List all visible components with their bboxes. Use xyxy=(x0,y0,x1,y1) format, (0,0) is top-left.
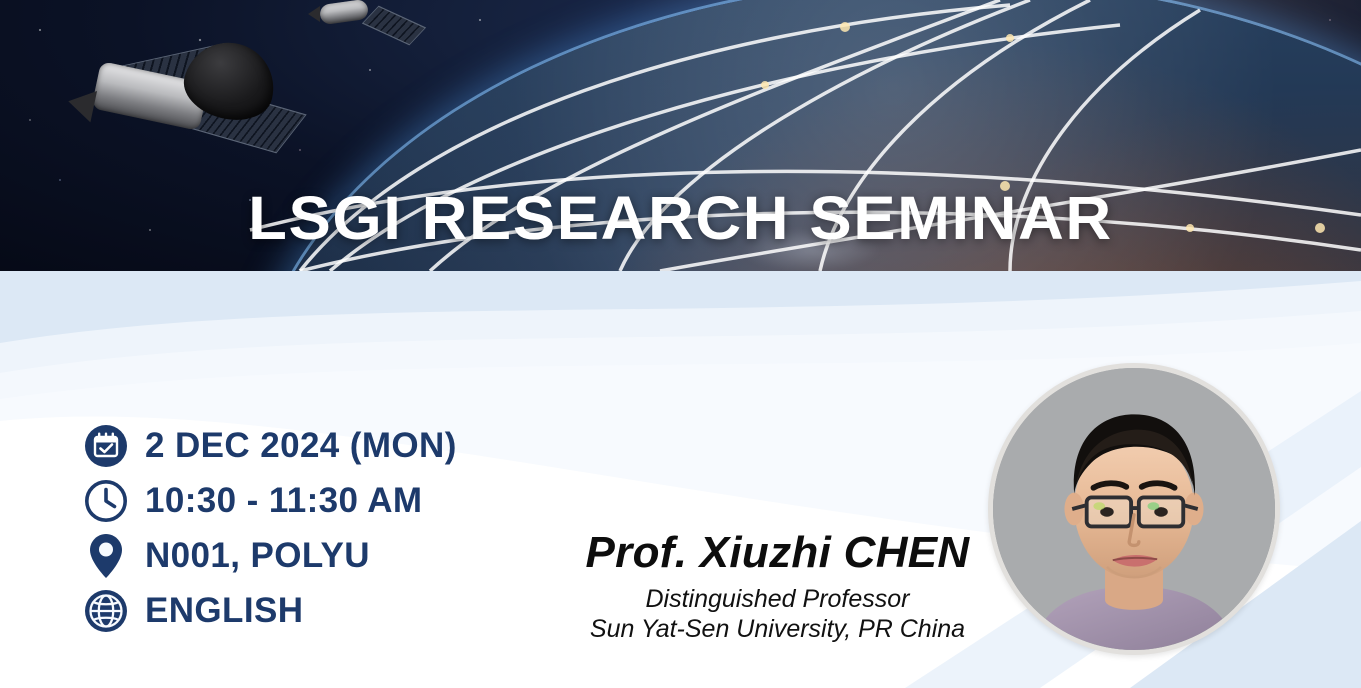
speaker-portrait xyxy=(988,363,1280,655)
detail-label-venue: N001, POLYU xyxy=(145,536,370,576)
speaker-name: Prof. Xiuzhi CHEN xyxy=(545,530,1010,576)
detail-row-language: ENGLISH xyxy=(84,583,457,638)
detail-row-date: 2 DEC 2024 (MON) xyxy=(84,418,457,473)
detail-label-time: 10:30 - 11:30 AM xyxy=(145,481,422,521)
seminar-poster: LSGI RESEARCH SEMINAR Mapping leaf age s… xyxy=(0,0,1361,688)
detail-label-language: ENGLISH xyxy=(145,591,303,631)
calendar-icon xyxy=(84,423,136,469)
event-details-list: 2 DEC 2024 (MON) 10:30 - 11:30 AM N001, … xyxy=(84,418,457,638)
satellite-small-icon xyxy=(312,0,422,50)
speaker-role: Distinguished Professor xyxy=(545,585,1010,615)
location-pin-icon xyxy=(84,533,136,579)
speaker-block: Prof. Xiuzhi CHEN Distinguished Professo… xyxy=(545,530,1010,644)
page-title: LSGI RESEARCH SEMINAR xyxy=(0,183,1361,253)
detail-row-venue: N001, POLYU xyxy=(84,528,457,583)
globe-icon xyxy=(84,588,136,634)
speaker-affiliation: Sun Yat-Sen University, PR China xyxy=(545,615,1010,645)
detail-label-date: 2 DEC 2024 (MON) xyxy=(145,426,457,466)
clock-icon xyxy=(84,478,136,524)
satellite-icon xyxy=(60,30,360,170)
detail-row-time: 10:30 - 11:30 AM xyxy=(84,473,457,528)
portrait-photo xyxy=(993,368,1275,650)
hero-space-image: LSGI RESEARCH SEMINAR xyxy=(0,0,1361,271)
